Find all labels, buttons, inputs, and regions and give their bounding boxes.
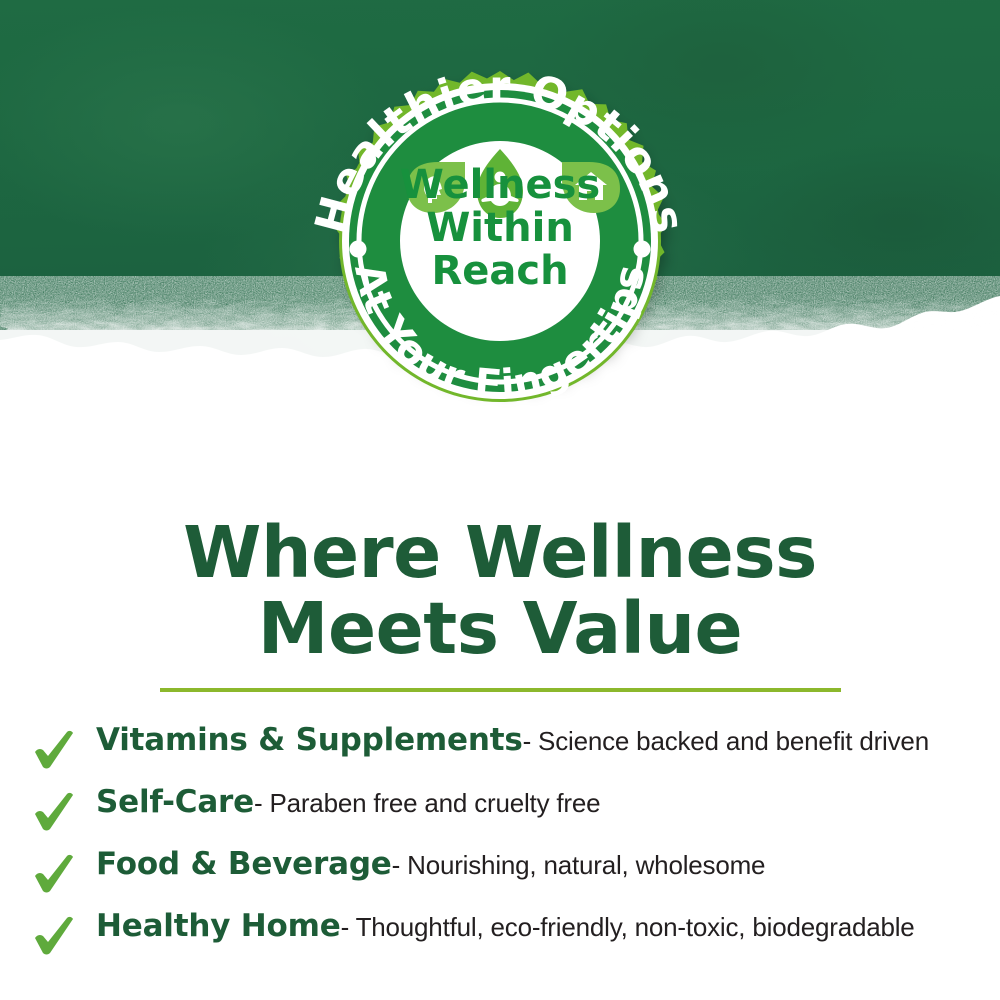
list-item-title: Healthy Home — [96, 908, 341, 944]
seal-center-line-3: Reach — [431, 248, 568, 294]
wellness-seal-badge: Healthier Options At Your Fingertips — [307, 63, 693, 431]
seal-dot-left — [350, 241, 367, 258]
list-item-desc: - Science backed and benefit driven — [523, 726, 929, 756]
list-item-title: Vitamins & Supplements — [96, 722, 523, 758]
list-item-desc: - Nourishing, natural, wholesome — [392, 850, 766, 880]
promo-poster: Healthier Options At Your Fingertips — [0, 0, 1000, 1000]
benefits-list: Vitamins & Supplements- Science backed a… — [0, 722, 1000, 970]
headline-line-2: Meets Value — [0, 591, 1000, 667]
list-item-title: Food & Beverage — [96, 846, 392, 882]
seal-dot-right — [634, 241, 651, 258]
list-item-desc: - Thoughtful, eco-friendly, non-toxic, b… — [341, 912, 915, 942]
checkmark-icon — [30, 726, 76, 772]
seal-center-line-1: Wellness — [400, 162, 600, 208]
checkmark-icon — [30, 912, 76, 958]
list-item-title: Self-Care — [96, 784, 254, 820]
list-item-text: Healthy Home- Thoughtful, eco-friendly, … — [34, 908, 915, 944]
list-item: Self-Care- Paraben free and cruelty free — [0, 784, 1000, 846]
list-item-desc: - Paraben free and cruelty free — [254, 788, 600, 818]
list-item-text: Vitamins & Supplements- Science backed a… — [34, 722, 929, 758]
list-item-text: Self-Care- Paraben free and cruelty free — [34, 784, 600, 820]
list-item-text: Food & Beverage- Nourishing, natural, wh… — [34, 846, 765, 882]
list-item: Healthy Home- Thoughtful, eco-friendly, … — [0, 908, 1000, 970]
headline-line-1: Where Wellness — [0, 515, 1000, 591]
checkmark-icon — [30, 788, 76, 834]
page-headline: Where Wellness Meets Value — [0, 515, 1000, 667]
list-item: Food & Beverage- Nourishing, natural, wh… — [0, 846, 1000, 908]
checkmark-icon — [30, 850, 76, 896]
headline-divider — [160, 688, 841, 692]
list-item: Vitamins & Supplements- Science backed a… — [0, 722, 1000, 784]
seal-center-line-2: Within — [426, 205, 574, 251]
